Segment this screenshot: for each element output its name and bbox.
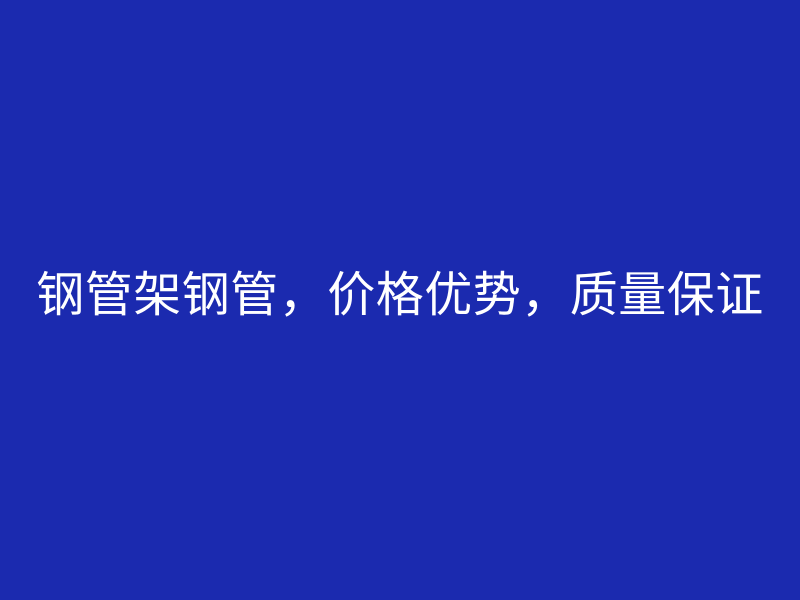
- banner-headline: 钢管架钢管，价格优势，质量保证: [36, 271, 764, 319]
- banner-text-container: 钢管架钢管，价格优势，质量保证: [0, 271, 800, 319]
- promo-banner: 钢管架钢管，价格优势，质量保证: [0, 0, 800, 600]
